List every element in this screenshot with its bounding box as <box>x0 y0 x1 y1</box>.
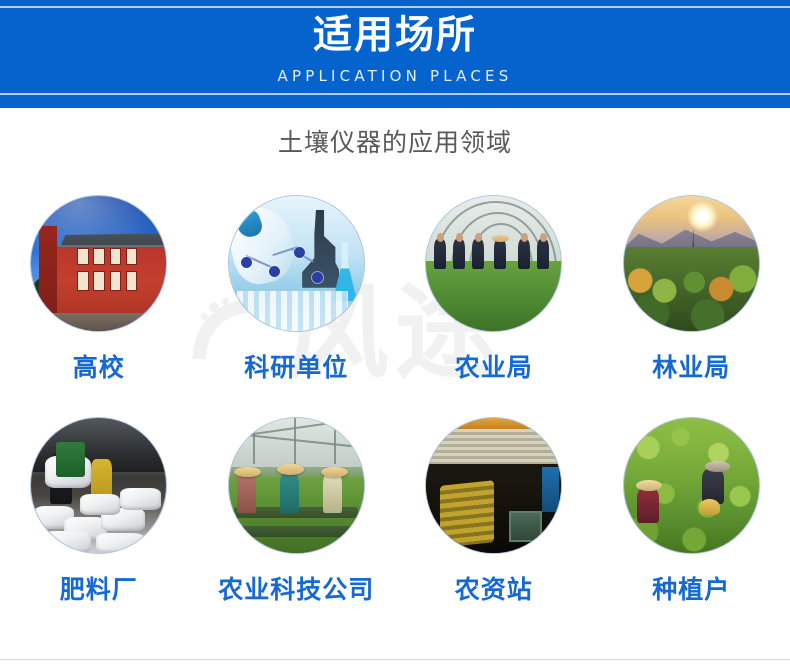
banner-subtitle: APPLICATION PLACES <box>0 66 790 86</box>
place-image-university <box>31 196 166 331</box>
places-grid: 高校 科研单位 <box>0 196 790 640</box>
place-label-agritech-company: 农业科技公司 <box>218 575 374 605</box>
place-card-grower[interactable]: 种植户 <box>593 418 790 640</box>
place-card-forestry-bureau[interactable]: 林业局 <box>593 196 790 418</box>
place-card-research-institute[interactable]: 科研单位 <box>198 196 396 418</box>
scene-agri-supply-store <box>426 418 561 553</box>
place-label-fertilizer-plant: 肥料厂 <box>60 575 138 605</box>
place-label-agriculture-bureau: 农业局 <box>455 353 533 383</box>
scene-greenhouse-field <box>426 196 561 331</box>
place-image-forestry-bureau <box>624 196 759 331</box>
scene-laboratory <box>229 196 364 331</box>
place-label-research-institute: 科研单位 <box>244 353 348 383</box>
place-label-agri-supply-station: 农资站 <box>455 575 533 605</box>
place-card-agritech-company[interactable]: 农业科技公司 <box>198 418 396 640</box>
place-card-agriculture-bureau[interactable]: 农业局 <box>395 196 593 418</box>
footer-divider <box>0 659 790 660</box>
scene-autumn-forest <box>624 196 759 331</box>
scene-seedling-greenhouse <box>229 418 364 553</box>
banner-title: 适用场所 <box>0 13 790 59</box>
scene-university-building <box>31 196 166 331</box>
banner-top-rule <box>0 6 790 8</box>
section-heading: 土壤仪器的应用领域 <box>0 126 790 160</box>
place-image-grower <box>624 418 759 553</box>
place-image-fertilizer-plant <box>31 418 166 553</box>
place-image-agritech-company <box>229 418 364 553</box>
place-label-university: 高校 <box>73 353 125 383</box>
place-image-agri-supply-station <box>426 418 561 553</box>
place-card-fertilizer-plant[interactable]: 肥料厂 <box>0 418 198 640</box>
place-image-research-institute <box>229 196 364 331</box>
place-card-university[interactable]: 高校 <box>0 196 198 418</box>
place-card-agri-supply-station[interactable]: 农资站 <box>395 418 593 640</box>
page-banner: 适用场所 APPLICATION PLACES <box>0 0 790 108</box>
scene-crop-field-farmers <box>624 418 759 553</box>
place-label-grower: 种植户 <box>652 575 730 605</box>
banner-bottom-rule <box>0 93 790 95</box>
scene-fertilizer-sacks <box>31 418 166 553</box>
place-image-agriculture-bureau <box>426 196 561 331</box>
place-label-forestry-bureau: 林业局 <box>652 353 730 383</box>
